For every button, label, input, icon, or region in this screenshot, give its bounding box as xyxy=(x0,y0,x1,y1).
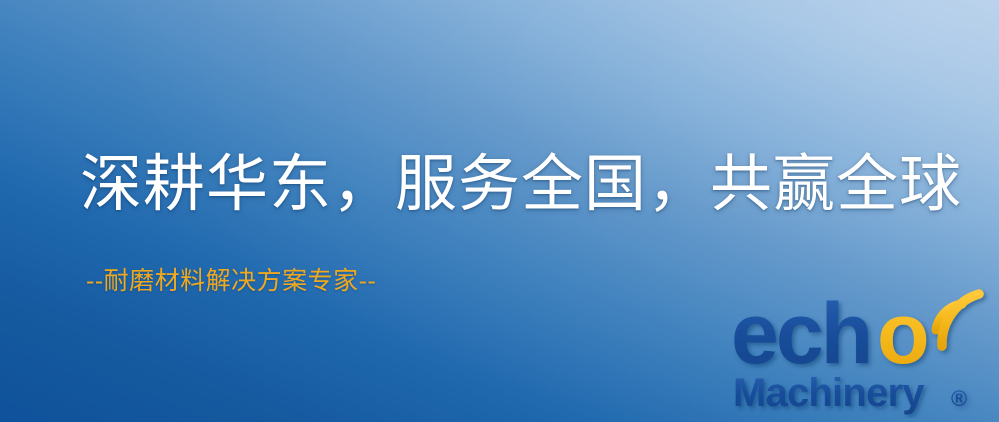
echo-machinery-logo[interactable]: ech o Machinery ® xyxy=(729,280,991,418)
logo-wordmark-ech: ech xyxy=(731,286,870,382)
logo-registered-mark: ® xyxy=(951,386,967,411)
logo-tagline: Machinery xyxy=(733,371,925,415)
banner-headline: 深耕华东，服务全国，共赢全球 xyxy=(80,152,962,219)
logo-wordmark-o: o xyxy=(877,286,930,382)
signal-arcs-icon xyxy=(936,294,979,346)
banner-subtitle: --耐磨材料解决方案专家-- xyxy=(86,266,376,297)
signal-arc-outer-icon xyxy=(942,294,979,346)
hero-banner: 深耕华东，服务全国，共赢全球 --耐磨材料解决方案专家-- xyxy=(0,0,999,422)
